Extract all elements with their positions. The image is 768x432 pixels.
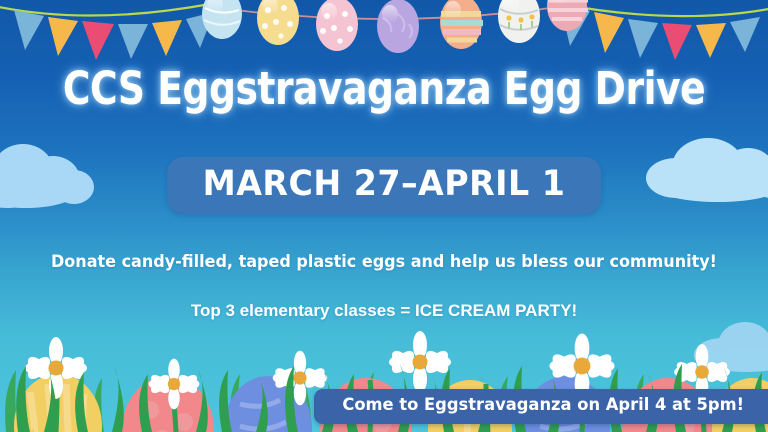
page-title: CCS Eggstravaganza Egg Drive (27, 62, 741, 115)
pennant-flags-right (560, 4, 760, 60)
prize-incentive-text: Top 3 elementary classes = ICE CREAM PAR… (0, 301, 768, 321)
hanging-egg-light-blue (202, 0, 242, 39)
date-badge-label: MARCH 27–APRIL 1 (203, 166, 566, 203)
hanging-egg-yellow-hearts (257, 0, 299, 45)
daisy (388, 331, 452, 393)
hanging-egg-white-flowers (498, 0, 540, 43)
hanging-egg-pink-stripes (547, 0, 588, 31)
cloud-left (0, 140, 100, 206)
hanging-egg-purple (377, 0, 419, 53)
cloud-right (646, 128, 768, 204)
pennant-flags-left (14, 10, 214, 60)
event-announcement-label: Come to Eggstravaganza on April 4 at 5pm… (342, 396, 744, 415)
event-announcement-banner: Come to Eggstravaganza on April 4 at 5pm… (314, 389, 768, 424)
hanging-egg-pink-dots (316, 0, 358, 51)
date-badge: MARCH 27–APRIL 1 (167, 157, 601, 214)
easter-egg-drive-poster: CCS Eggstravaganza Egg Drive MARCH 27–AP… (0, 0, 768, 432)
donation-instructions-text: Donate candy-filled, taped plastic eggs … (12, 252, 757, 271)
hanging-egg-striped (440, 0, 483, 49)
